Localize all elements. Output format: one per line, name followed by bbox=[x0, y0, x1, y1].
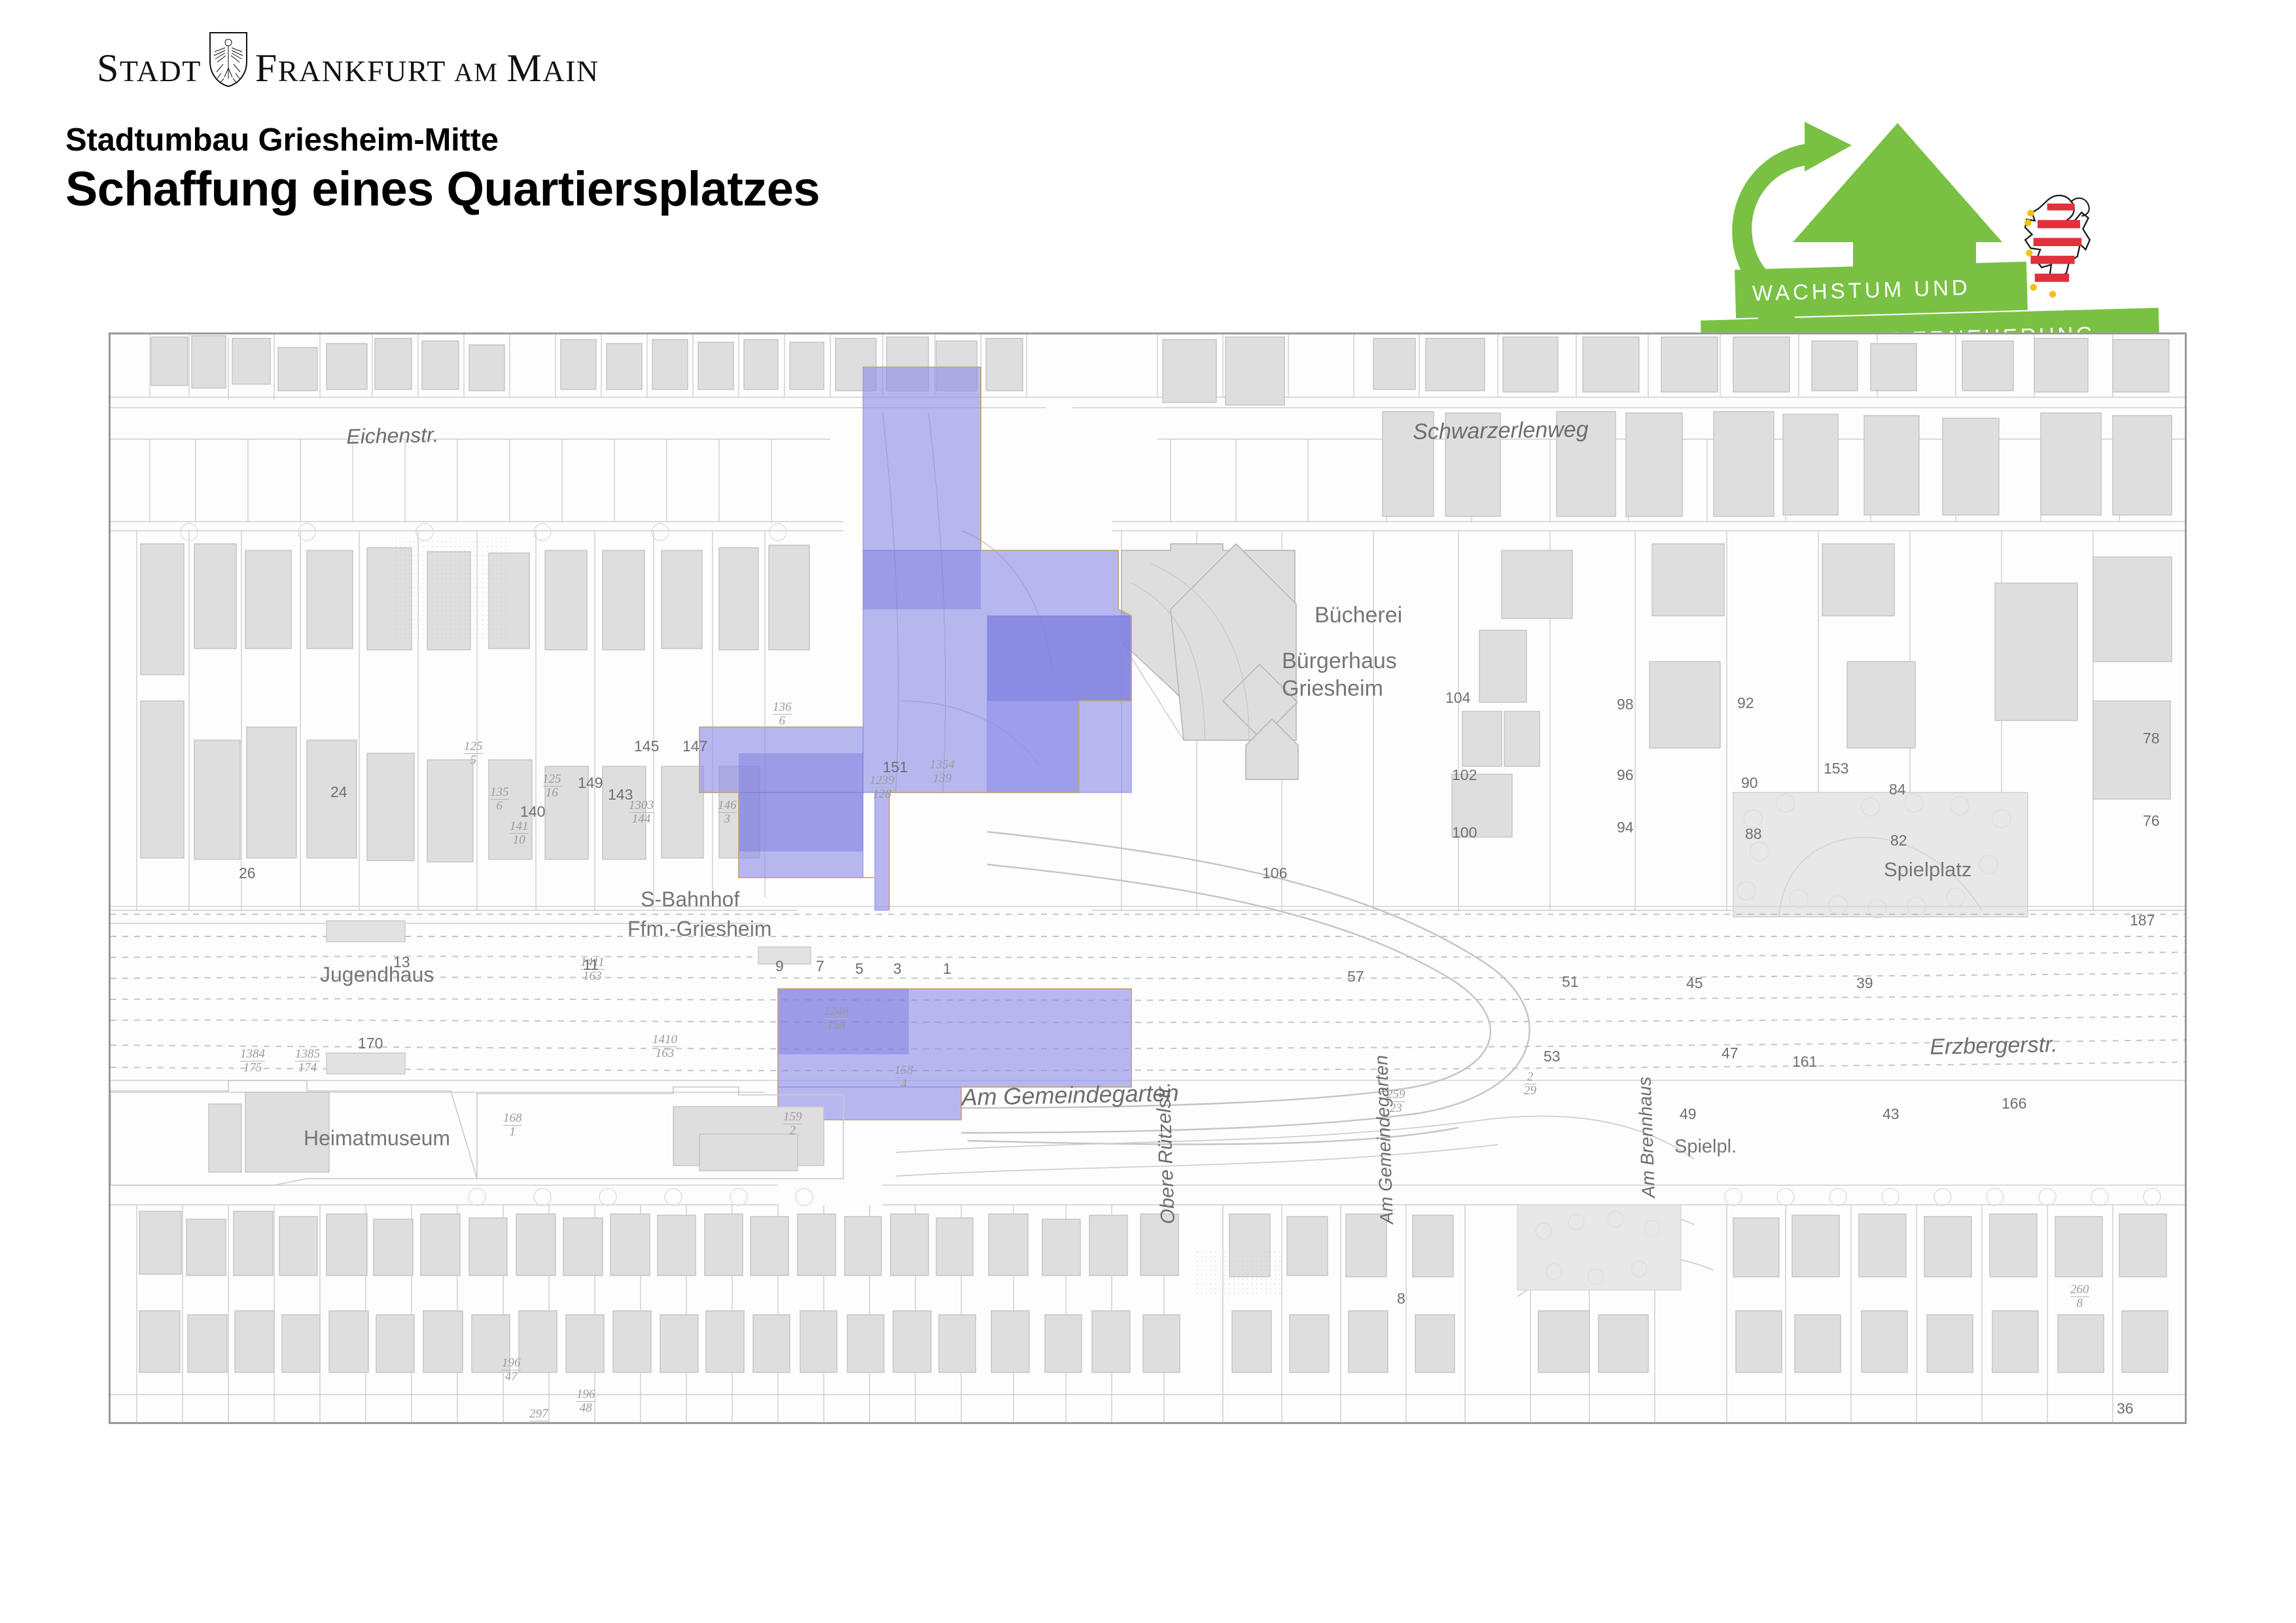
parcel-number: 1410163 bbox=[652, 1033, 677, 1060]
parcel-number: 1354139 bbox=[930, 758, 955, 785]
street-label: Schwarzerlenweg bbox=[1413, 417, 1589, 445]
parcel-number: 1239128 bbox=[870, 774, 894, 800]
parcel-number: 19648 bbox=[576, 1388, 595, 1414]
house-number: 151 bbox=[883, 758, 908, 776]
house-number: 170 bbox=[358, 1035, 383, 1052]
frankfurt-eagle-shield-icon bbox=[208, 31, 249, 88]
poi-label: Heimatmuseum bbox=[304, 1126, 450, 1150]
poster-page: STADT FRANKFURT AM MAIN Stadtumbau Gries… bbox=[0, 0, 2296, 1623]
house-number: 88 bbox=[1745, 825, 1762, 843]
house-number: 57 bbox=[1347, 968, 1364, 986]
city-logo-word-left: STADT bbox=[97, 48, 202, 88]
parcel-number: 1592 bbox=[783, 1111, 802, 1137]
house-number: 8 bbox=[1397, 1290, 1405, 1308]
house-number: 106 bbox=[1262, 865, 1287, 882]
poi-label: Jugendhaus bbox=[320, 963, 434, 987]
parcel-number: 1463 bbox=[718, 799, 737, 825]
house-number: 36 bbox=[2117, 1400, 2134, 1418]
house-number: 104 bbox=[1445, 689, 1470, 707]
hessen-lion-icon bbox=[2024, 196, 2090, 298]
house-number: 100 bbox=[1452, 824, 1477, 842]
parcel-number: 1584 bbox=[894, 1064, 913, 1090]
house-number: 149 bbox=[578, 774, 603, 792]
house-number: 51 bbox=[1562, 973, 1579, 991]
house-number: 26 bbox=[239, 865, 256, 882]
house-number: 76 bbox=[2143, 812, 2160, 830]
page-title: Schaffung eines Quartiersplatzes bbox=[65, 161, 820, 217]
parcel-number: 1248158 bbox=[824, 1005, 849, 1031]
parcel-number: 12516 bbox=[542, 773, 561, 799]
house-number: 147 bbox=[682, 738, 707, 755]
city-logo: STADT FRANKFURT AM MAIN bbox=[97, 31, 599, 88]
house-number: 143 bbox=[608, 786, 633, 804]
parcel-number: 1681 bbox=[503, 1112, 522, 1138]
parcel-number: 1356 bbox=[490, 786, 509, 812]
house-number: 145 bbox=[634, 738, 659, 755]
map-vector-layer bbox=[111, 334, 2185, 1422]
house-number: 98 bbox=[1617, 696, 1634, 713]
parcel-number: 1384175 bbox=[240, 1048, 265, 1074]
street-label: Eichenstr. bbox=[346, 423, 439, 449]
house-number: 13 bbox=[393, 954, 410, 971]
street-label: Erzbergerstr. bbox=[1930, 1032, 2058, 1060]
house-number: 96 bbox=[1617, 766, 1634, 784]
poi-label: Bücherei bbox=[1315, 603, 1402, 628]
street-label: Am Brennhaus bbox=[1634, 1077, 1659, 1198]
footer-logo-bar: Bundesministerium für Wohnen, Stadtentwi… bbox=[0, 1448, 2296, 1623]
house-number: 49 bbox=[1680, 1105, 1697, 1123]
parcel-number: 2974 bbox=[529, 1408, 548, 1424]
hessen-logo-line1: WACHSTUM UND bbox=[1735, 262, 2028, 318]
city-logo-word-right: FRANKFURT AM MAIN bbox=[255, 48, 599, 88]
house-number: 90 bbox=[1741, 774, 1758, 792]
house-number: 78 bbox=[2143, 730, 2160, 747]
poi-label: Spielplatz bbox=[1884, 858, 1971, 882]
parcel-number: 1255 bbox=[464, 740, 483, 766]
poi-label: S-Bahnhof bbox=[641, 887, 739, 912]
house-number: 47 bbox=[1722, 1044, 1739, 1062]
house-number: 1 bbox=[943, 960, 951, 978]
house-number: 82 bbox=[1890, 832, 1907, 849]
house-number: 187 bbox=[2130, 912, 2155, 929]
page-subtitle: Stadtumbau Griesheim-Mitte bbox=[65, 122, 499, 158]
house-number: 140 bbox=[520, 803, 545, 821]
poi-label: Spielpl. bbox=[1674, 1136, 1737, 1158]
house-number: 11 bbox=[583, 956, 599, 974]
poi-label: Griesheim bbox=[1282, 676, 1383, 702]
parcel-number: 1385174 bbox=[295, 1048, 320, 1074]
house-number: 43 bbox=[1882, 1105, 1899, 1123]
house-number: 5 bbox=[855, 960, 864, 978]
house-number: 161 bbox=[1792, 1053, 1817, 1071]
house-number: 166 bbox=[2002, 1095, 2026, 1113]
parcel-number: 1366 bbox=[773, 701, 792, 727]
parcel-number: 229 bbox=[1524, 1071, 1536, 1097]
house-number: 24 bbox=[330, 783, 347, 801]
parcel-number: 2608 bbox=[2070, 1283, 2089, 1310]
house-number: 3 bbox=[893, 960, 902, 978]
house-number: 84 bbox=[1889, 781, 1906, 798]
poi-label: Ffm.-Griesheim bbox=[627, 917, 771, 941]
house-number: 53 bbox=[1544, 1048, 1561, 1065]
poi-label: Bürgerhaus bbox=[1282, 649, 1397, 674]
house-number: 102 bbox=[1452, 766, 1477, 784]
house-number: 94 bbox=[1617, 819, 1634, 836]
house-number: 153 bbox=[1824, 760, 1848, 777]
cadastral-map[interactable]: Eichenstr.SchwarzerlenwegErzbergerstr.Am… bbox=[109, 332, 2187, 1424]
house-number: 9 bbox=[775, 957, 784, 975]
house-number: 7 bbox=[816, 957, 824, 975]
house-number: 39 bbox=[1856, 974, 1873, 992]
street-label: Am Gemeindegarten bbox=[961, 1079, 1179, 1111]
parcel-number: 19647 bbox=[502, 1357, 521, 1383]
parcel-number: 14110 bbox=[510, 820, 529, 846]
parcel-number: 25923 bbox=[1386, 1088, 1405, 1115]
house-number: 45 bbox=[1686, 974, 1703, 992]
house-number: 92 bbox=[1737, 694, 1754, 712]
